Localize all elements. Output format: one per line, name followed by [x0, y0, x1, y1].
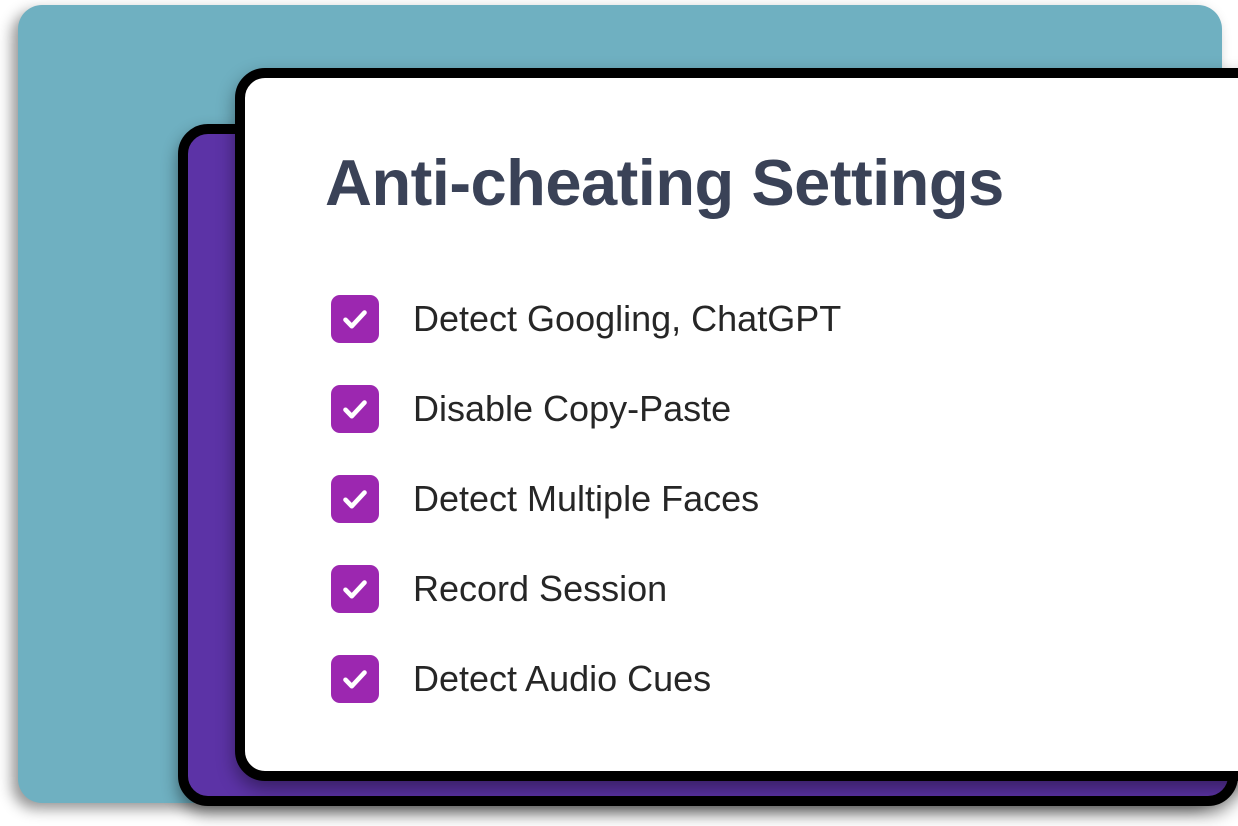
setting-row[interactable]: Detect Audio Cues: [331, 655, 1131, 703]
setting-checkbox[interactable]: [331, 475, 379, 523]
setting-label: Detect Googling, ChatGPT: [413, 301, 841, 337]
checkmark-icon: [339, 573, 371, 605]
panel-body: Anti-cheating Settings Detect Googling, …: [245, 78, 1238, 771]
setting-label: Record Session: [413, 571, 667, 607]
setting-label: Detect Multiple Faces: [413, 481, 759, 517]
checkmark-icon: [339, 393, 371, 425]
setting-checkbox[interactable]: [331, 565, 379, 613]
setting-row[interactable]: Record Session: [331, 565, 1131, 613]
screenshot-stage: Anti-cheating Settings Detect Googling, …: [0, 0, 1238, 826]
settings-list: Detect Googling, ChatGPTDisable Copy-Pas…: [331, 295, 1131, 703]
setting-row[interactable]: Detect Googling, ChatGPT: [331, 295, 1131, 343]
checkmark-icon: [339, 663, 371, 695]
checkmark-icon: [339, 303, 371, 335]
setting-checkbox[interactable]: [331, 385, 379, 433]
page-title: Anti-cheating Settings: [325, 150, 1004, 215]
setting-label: Disable Copy-Paste: [413, 391, 731, 427]
setting-checkbox[interactable]: [331, 655, 379, 703]
checkmark-icon: [339, 483, 371, 515]
setting-label: Detect Audio Cues: [413, 661, 711, 697]
setting-checkbox[interactable]: [331, 295, 379, 343]
anti-cheating-settings-panel: Anti-cheating Settings Detect Googling, …: [235, 68, 1238, 781]
setting-row[interactable]: Disable Copy-Paste: [331, 385, 1131, 433]
setting-row[interactable]: Detect Multiple Faces: [331, 475, 1131, 523]
